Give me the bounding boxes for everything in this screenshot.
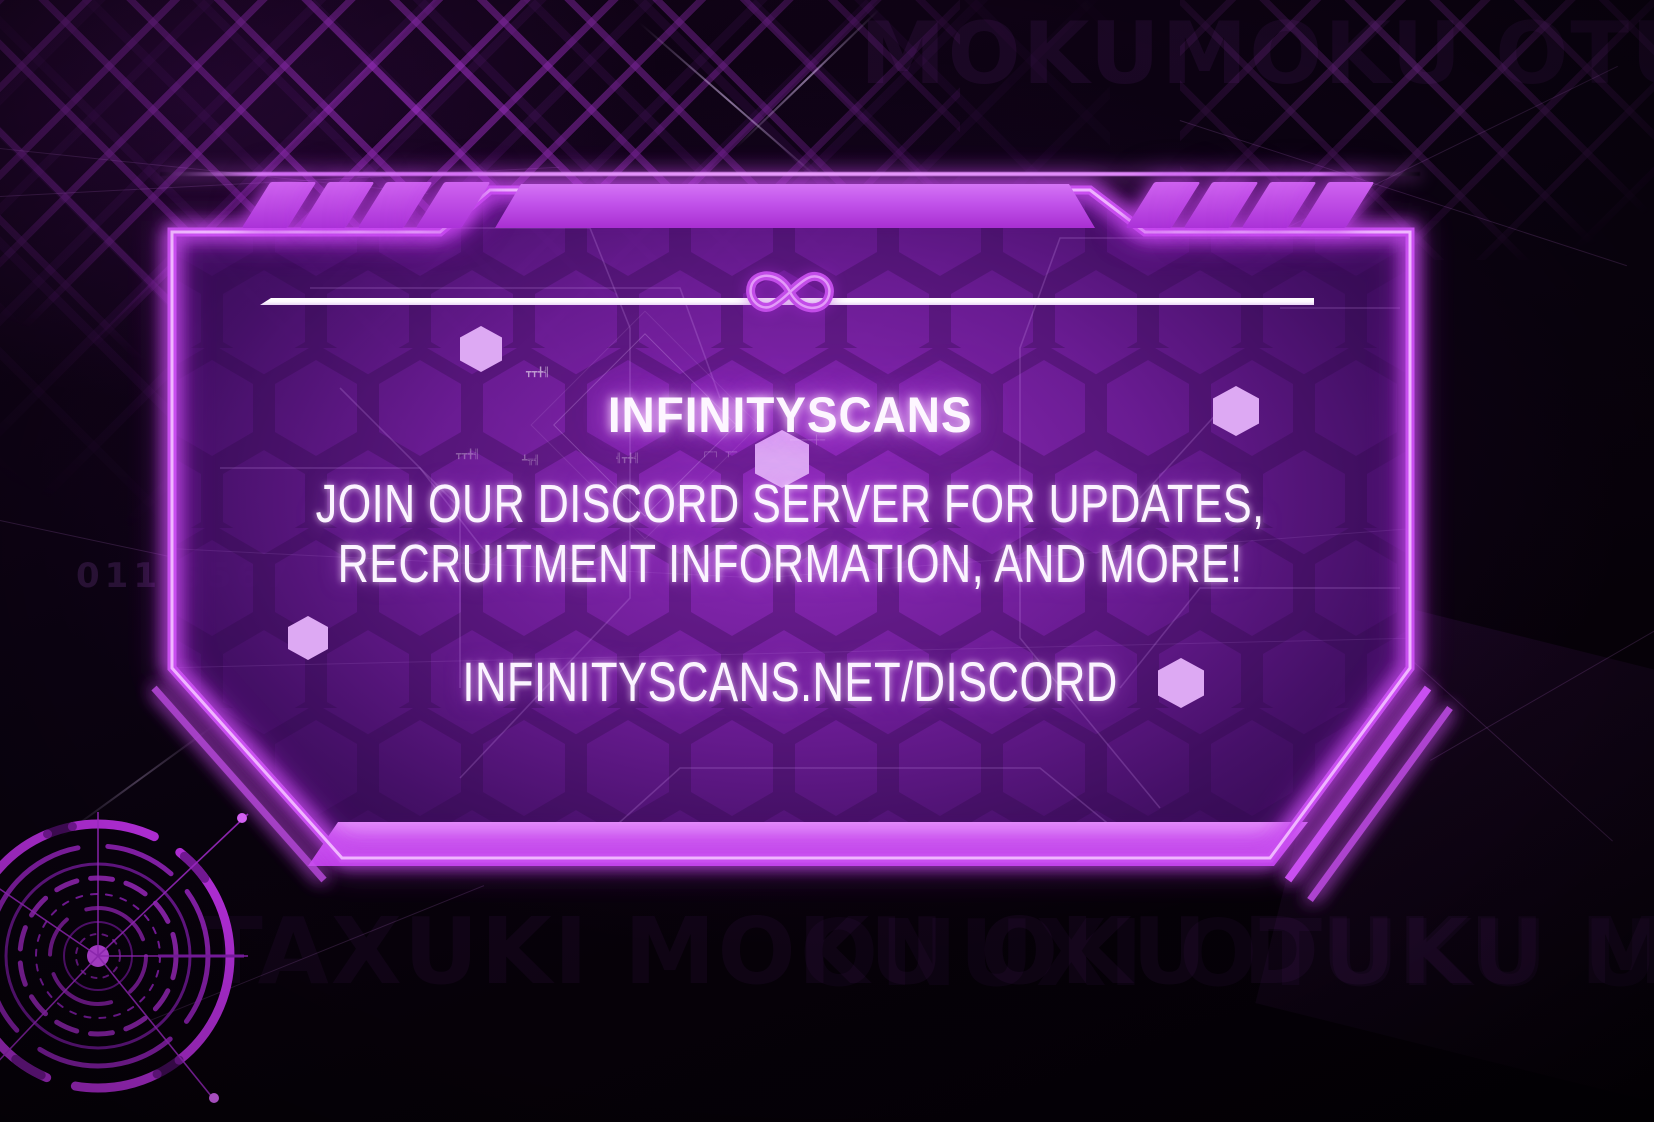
background-ghost-text: MOKUMOKU OTUKU [860,4,1654,104]
discord-url[interactable]: infinityscans.net/discord [462,649,1117,714]
banner-canvas: MOKUMOKU OTUKU TAXUKI MOKU OKU DUKU MUKI… [0,0,1654,1122]
panel-content: INFINITYSCANS Join our discord server fo… [160,168,1420,898]
brand-title: INFINITYSCANS [608,386,973,444]
tagline: Join our discord server for updates, rec… [316,474,1265,595]
tagline-line-2: recruitment information, and more! [316,534,1265,594]
tagline-line-1: Join our discord server for updates, [316,474,1265,534]
hud-panel: ┳┳╋╣ ┳┳╋╣ ┻╦╣ ╣┳╋╣ ┌─┐ ┬─ ────┼─ IN [160,168,1420,898]
